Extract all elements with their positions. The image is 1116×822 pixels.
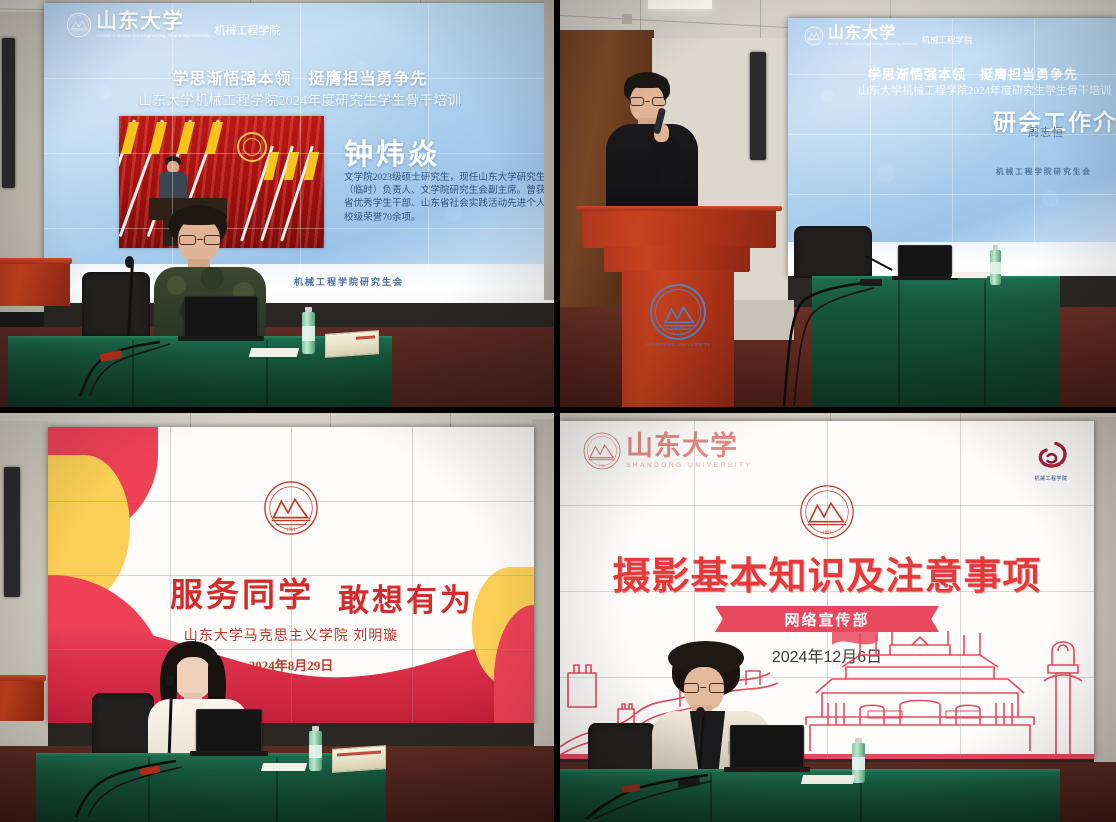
sdu-logo-lockup: 1901 山东大学 SHANDONG UNIVERSITY — [582, 431, 752, 471]
panel-top-left: 山东大学 School of Mechanical Engineering, S… — [0, 0, 554, 407]
cable-svg — [60, 336, 180, 398]
chair — [588, 723, 656, 775]
svg-text:1901: 1901 — [822, 531, 832, 536]
cable-adapter — [860, 279, 882, 286]
sdu-wordmark: 山东大学 — [96, 11, 210, 32]
bottle-label — [852, 757, 865, 771]
right-wall — [1094, 417, 1116, 763]
laptop-base — [724, 767, 810, 772]
microphone-head — [166, 675, 174, 686]
ribbon-label: 网络宣传部 — [784, 609, 869, 630]
microphone-head — [696, 707, 705, 718]
wall-speaker — [4, 467, 20, 597]
bottle-label — [309, 745, 322, 759]
panel-top-right: 山东大学 School of Mechanical Engineering, S… — [560, 0, 1116, 407]
slide-date: 2024年8月29日 — [249, 655, 334, 674]
bottle-label — [990, 262, 1001, 274]
sdu-wordmark-sub: SHANDONG UNIVERSITY — [626, 463, 752, 469]
bottle-cap — [305, 307, 311, 312]
lectern-top-lip — [576, 206, 782, 211]
papers — [801, 775, 855, 784]
wall-speaker — [750, 52, 766, 160]
lectern — [582, 206, 776, 248]
name-card — [332, 745, 386, 773]
slide-title: 摄影基本知识及注意事项 — [612, 545, 1041, 600]
glasses-icon — [683, 683, 725, 694]
lectern-seal-icon: 1901 — [650, 284, 706, 340]
sdu-seal-icon: 1901 — [582, 431, 622, 471]
name-card-accent — [356, 335, 375, 339]
chair — [794, 226, 872, 278]
school-badge: 机械工程学院 — [1024, 439, 1078, 482]
bottle-cap — [312, 726, 318, 731]
lectern-seal-sub: SHANDONG UNIVERSITY — [622, 342, 734, 347]
led-video-wall: 1901 服务同学 敢想有为 山东大学马克思主义学院 刘明璇 2024年8月29… — [48, 427, 534, 723]
name-card-text — [326, 341, 378, 351]
side-lectern — [0, 675, 44, 721]
name-card-accent — [337, 750, 381, 756]
standing-speaker — [596, 72, 706, 222]
chair — [82, 272, 150, 338]
sdu-logo-lockup: 山东大学 School of Mechanical Engineering, S… — [804, 26, 973, 47]
ceiling-vent — [622, 14, 632, 24]
sdu-seal-icon — [804, 26, 824, 46]
slide-speaker-name: 钟炜焱 — [344, 131, 440, 173]
school-name-cn: 机械工程学院 — [214, 26, 280, 37]
bottle-cap — [855, 738, 861, 743]
microphone-head — [125, 256, 134, 268]
sdu-seal-icon — [66, 12, 92, 38]
bottle-label — [302, 326, 315, 340]
laptop — [196, 709, 262, 753]
lectern-lip — [0, 675, 46, 681]
right-wall — [544, 0, 554, 300]
water-bottle — [302, 312, 315, 354]
lectern-seal-year: 1901 — [652, 326, 704, 332]
cables — [574, 769, 714, 821]
lectern-neck — [604, 246, 750, 272]
cable-svg — [770, 278, 880, 407]
school-badge-label: 机械工程学院 — [1024, 475, 1078, 482]
svg-text:1901: 1901 — [599, 463, 606, 467]
right-wall — [532, 419, 554, 759]
papers — [249, 348, 300, 357]
laptop-base — [190, 751, 268, 756]
lectern-base: 1901 SHANDONG UNIVERSITY — [622, 270, 734, 407]
ceiling-light — [648, 0, 712, 9]
desk-fold — [984, 280, 986, 407]
desk-fold — [898, 280, 900, 407]
side-lectern — [0, 258, 70, 306]
bottle-cap — [993, 245, 998, 250]
laptop-base — [892, 276, 958, 280]
slide-footer: 机械工程学院研究生会 — [294, 275, 404, 288]
cables — [60, 336, 180, 398]
name-card — [325, 330, 379, 358]
slide-subhead: 山东大学机械工程学院2024年度研究生学生骨干培训 — [858, 82, 1111, 98]
led-video-wall: 1901 山东大学 SHANDONG UNIVERSITY 1901 — [560, 421, 1094, 759]
school-name-cn: 机械工程学院 — [922, 36, 973, 45]
slide-headline: 学思渐悟强本领 挺膺担当勇争先 — [868, 64, 1078, 83]
lectern-lip — [0, 258, 72, 264]
fringe — [172, 207, 226, 225]
panel-bottom-left: 1901 服务同学 敢想有为 山东大学马克思主义学院 刘明璇 2024年8月29… — [0, 413, 554, 822]
panel-bottom-right: 1901 山东大学 SHANDONG UNIVERSITY 1901 — [560, 413, 1116, 822]
cable-svg — [56, 753, 186, 819]
sdu-wordmark-sub: School of Mechanical Engineering, Shando… — [96, 34, 210, 39]
slide-speaker-name: 周志恒 — [1028, 124, 1064, 140]
cable-svg — [574, 769, 714, 821]
mech-school-emblem-icon — [1031, 439, 1071, 473]
cables — [56, 753, 186, 819]
slide-footer: 机械工程学院研究生会 — [996, 166, 1092, 177]
slide-headline-left: 服务同学 — [170, 568, 314, 616]
papers — [951, 272, 989, 278]
laptop — [184, 296, 258, 338]
photo-collage: 山东大学 School of Mechanical Engineering, S… — [0, 0, 1116, 822]
water-bottle — [990, 250, 1001, 285]
slide-headline-right: 敢想有为 — [338, 575, 474, 620]
led-video-wall: 山东大学 School of Mechanical Engineering, S… — [44, 3, 554, 303]
svg-text:1901: 1901 — [286, 528, 296, 533]
center-seal: 1901 — [798, 483, 856, 546]
slide-headline: 学思渐悟强本领 挺膺担当勇争先 — [172, 65, 427, 89]
sdu-wordmark-sub: School of Mechanical Engineering, Shando… — [828, 43, 918, 47]
sdu-logo-lockup: 山东大学 School of Mechanical Engineering, S… — [66, 11, 280, 39]
glasses-icon — [178, 235, 222, 246]
sdu-seal-icon: 1901 — [262, 479, 320, 537]
papers — [261, 763, 307, 771]
laptop — [730, 725, 804, 769]
glasses-icon — [630, 97, 666, 107]
sdu-wordmark: 山东大学 — [626, 433, 752, 460]
wall-speaker — [2, 38, 15, 188]
cables — [770, 278, 880, 407]
slide-speaker-bio: 文学院2023级硕士研究生，现任山东大学研究生会（临时）负责人、文学院研究生会副… — [344, 171, 554, 224]
sdu-seal-block: 1901 — [259, 479, 323, 542]
name-card-text — [333, 756, 385, 766]
slide-subhead: 山东大学机械工程学院2024年度研究生学生骨干培训 — [139, 89, 462, 109]
laptop-base — [178, 336, 264, 341]
laptop — [898, 245, 952, 278]
sdu-wordmark: 山东大学 — [828, 26, 918, 42]
water-bottle — [309, 731, 322, 771]
fringe — [626, 74, 668, 88]
stage-emblem-icon — [237, 132, 267, 162]
sdu-seal-icon: 1901 — [798, 483, 856, 541]
